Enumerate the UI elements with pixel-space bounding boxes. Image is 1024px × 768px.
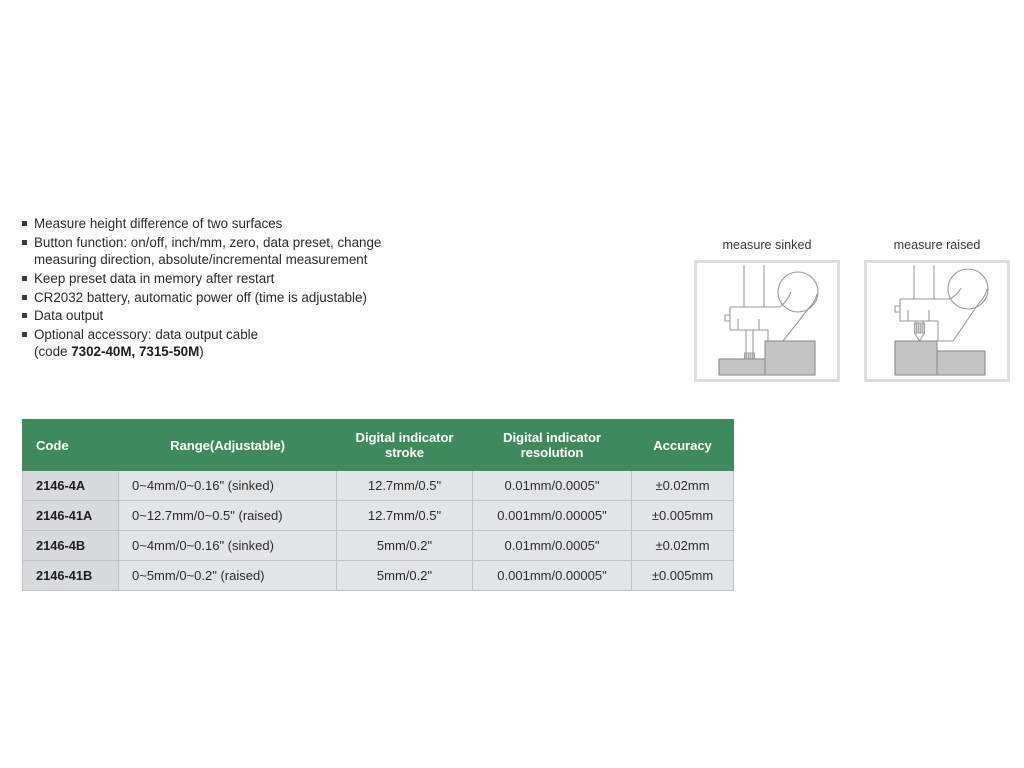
cell-stroke: 5mm/0.2" — [337, 531, 473, 561]
cell-resolution: 0.001mm/0.00005" — [473, 561, 632, 591]
cell-stroke: 5mm/0.2" — [337, 561, 473, 591]
cell-resolution: 0.01mm/0.0005" — [473, 471, 632, 501]
column-header-accuracy: Accuracy — [632, 420, 734, 471]
cell-range: 0~12.7mm/0~0.5" (raised) — [119, 501, 337, 531]
accessory-code-suffix: ) — [199, 344, 203, 359]
cell-accuracy: ±0.005mm — [632, 501, 734, 531]
column-header-resolution-line1: Digital indicator — [503, 430, 601, 445]
list-item-line1: Button function: on/off, inch/mm, zero, … — [34, 235, 381, 250]
cell-range: 0~4mm/0~0.16" (sinked) — [119, 531, 337, 561]
illustration-frame — [694, 260, 840, 382]
list-item-label: Measure height difference of two surface… — [34, 215, 482, 233]
list-item: Optional accessory: data output cable (c… — [22, 326, 482, 361]
cell-code: 2146-4B — [23, 531, 119, 561]
accessory-codes: 7302-40M, 7315-50M — [71, 344, 199, 359]
table-body: 2146-4A 0~4mm/0~0.16" (sinked) 12.7mm/0.… — [23, 471, 734, 591]
cell-code: 2146-41B — [23, 561, 119, 591]
column-header-accuracy-line1: Accuracy — [653, 438, 712, 453]
cell-code: 2146-4A — [23, 471, 119, 501]
illustration-group: measure sinked — [694, 238, 1010, 382]
list-item-label: Optional accessory: data output cable (c… — [34, 326, 482, 361]
square-bullet-icon — [22, 240, 34, 245]
table-header-row: Code Range(Adjustable) Digital indicator… — [23, 420, 734, 471]
cell-accuracy: ±0.005mm — [632, 561, 734, 591]
table-header: Code Range(Adjustable) Digital indicator… — [23, 420, 734, 471]
cell-accuracy: ±0.02mm — [632, 531, 734, 561]
square-bullet-icon — [22, 221, 34, 226]
gauge-raised-diagram — [867, 263, 1007, 379]
column-header-resolution: Digital indicator resolution — [473, 420, 632, 471]
table-row: 2146-41A 0~12.7mm/0~0.5" (raised) 12.7mm… — [23, 501, 734, 531]
column-header-code: Code — [23, 420, 119, 471]
cell-range: 0~5mm/0~0.2" (raised) — [119, 561, 337, 591]
column-header-resolution-line2: resolution — [521, 445, 584, 460]
column-header-stroke-line1: Digital indicator — [356, 430, 454, 445]
cell-stroke: 12.7mm/0.5" — [337, 471, 473, 501]
illustration-measure-sinked: measure sinked — [694, 238, 840, 382]
illustration-measure-raised: measure raised — [864, 238, 1010, 382]
cell-resolution: 0.01mm/0.0005" — [473, 531, 632, 561]
column-header-range-line1: Range(Adjustable) — [170, 438, 285, 453]
square-bullet-icon — [22, 332, 34, 337]
column-header-code-line1: Code — [36, 438, 69, 453]
list-item: Data output — [22, 307, 482, 325]
list-item-line2: (code 7302-40M, 7315-50M) — [34, 343, 482, 361]
specification-table: Code Range(Adjustable) Digital indicator… — [22, 419, 734, 591]
gauge-sinked-diagram — [697, 263, 837, 379]
square-bullet-icon — [22, 276, 34, 281]
list-item: CR2032 battery, automatic power off (tim… — [22, 289, 482, 307]
column-header-stroke: Digital indicator stroke — [337, 420, 473, 471]
illustration-caption: measure raised — [864, 238, 1010, 252]
list-item-label: CR2032 battery, automatic power off (tim… — [34, 289, 482, 307]
list-item-label: Keep preset data in memory after restart — [34, 270, 482, 288]
table-row: 2146-4A 0~4mm/0~0.16" (sinked) 12.7mm/0.… — [23, 471, 734, 501]
specification-table-container: Code Range(Adjustable) Digital indicator… — [22, 419, 733, 591]
illustration-caption: measure sinked — [694, 238, 840, 252]
cell-code: 2146-41A — [23, 501, 119, 531]
cell-range: 0~4mm/0~0.16" (sinked) — [119, 471, 337, 501]
cell-resolution: 0.001mm/0.00005" — [473, 501, 632, 531]
column-header-range: Range(Adjustable) — [119, 420, 337, 471]
list-item-line1: Optional accessory: data output cable — [34, 327, 258, 342]
feature-list: Measure height difference of two surface… — [22, 215, 482, 362]
cell-stroke: 12.7mm/0.5" — [337, 501, 473, 531]
list-item: Button function: on/off, inch/mm, zero, … — [22, 234, 482, 269]
list-item: Keep preset data in memory after restart — [22, 270, 482, 288]
accessory-code-prefix: (code — [34, 344, 71, 359]
column-header-stroke-line2: stroke — [385, 445, 424, 460]
list-item-line2: measuring direction, absolute/incrementa… — [34, 251, 482, 269]
list-item-label: Data output — [34, 307, 482, 325]
table-row: 2146-41B 0~5mm/0~0.2" (raised) 5mm/0.2" … — [23, 561, 734, 591]
square-bullet-icon — [22, 313, 34, 318]
table-row: 2146-4B 0~4mm/0~0.16" (sinked) 5mm/0.2" … — [23, 531, 734, 561]
list-item: Measure height difference of two surface… — [22, 215, 482, 233]
list-item-label: Button function: on/off, inch/mm, zero, … — [34, 234, 482, 269]
illustration-frame — [864, 260, 1010, 382]
cell-accuracy: ±0.02mm — [632, 471, 734, 501]
square-bullet-icon — [22, 295, 34, 300]
